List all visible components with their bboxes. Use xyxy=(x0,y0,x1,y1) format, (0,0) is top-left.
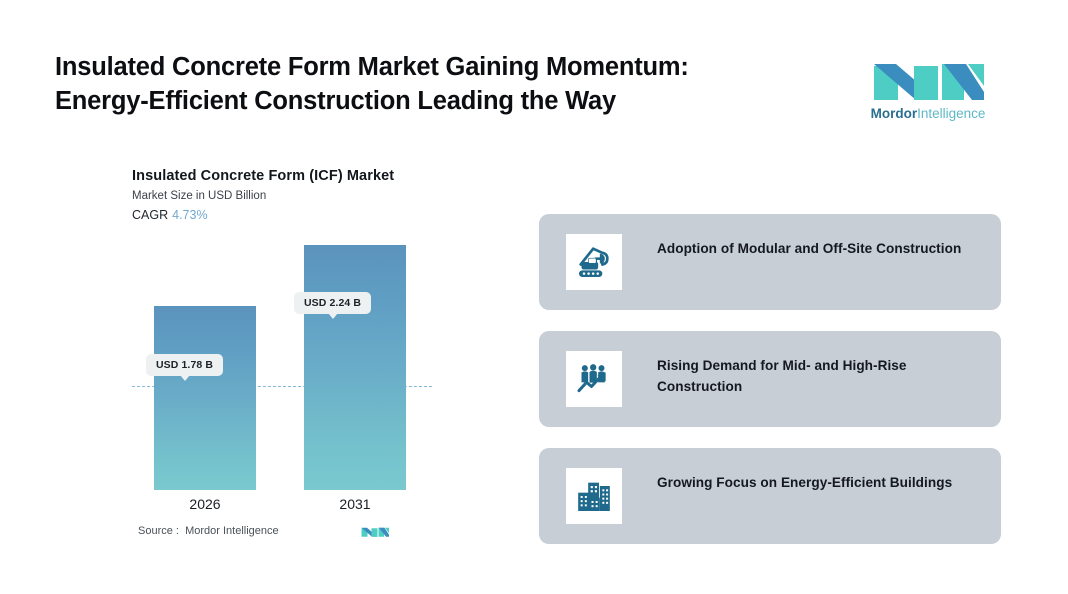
market-drivers-list: Adoption of Modular and Off-Site Constru… xyxy=(539,214,1001,544)
driver-card-highrise-demand[interactable]: Rising Demand for Mid- and High-Rise Con… xyxy=(539,331,1001,427)
driver-card-label: Rising Demand for Mid- and High-Rise Con… xyxy=(657,355,977,397)
bar-value-label-2026: USD 1.78 B xyxy=(146,354,223,376)
brand-logo: MordorIntelligence xyxy=(862,52,994,130)
x-axis-tick-2026: 2026 xyxy=(154,496,256,512)
excavator-icon xyxy=(566,234,622,290)
city-buildings-icon xyxy=(566,468,622,524)
driver-card-label: Growing Focus on Energy-Efficient Buildi… xyxy=(657,472,977,493)
page-title: Insulated Concrete Form Market Gaining M… xyxy=(55,50,845,118)
chart-cagr: CAGR4.73% xyxy=(132,208,208,222)
people-growth-chart-icon xyxy=(566,351,622,407)
cagr-label: CAGR xyxy=(132,208,168,222)
chart-source: Source : Mordor Intelligence xyxy=(138,523,448,543)
x-axis-tick-2031: 2031 xyxy=(304,496,406,512)
market-size-chart: Insulated Concrete Form (ICF) Market Mar… xyxy=(132,160,492,545)
page-header: Insulated Concrete Form Market Gaining M… xyxy=(0,0,1068,150)
bar-value-label-2031: USD 2.24 B xyxy=(294,292,371,314)
source-name: Mordor Intelligence xyxy=(185,525,279,537)
chart-title: Insulated Concrete Form (ICF) Market xyxy=(132,168,394,184)
source-text: Source : Mordor Intelligence xyxy=(138,525,279,537)
bar-2026[interactable] xyxy=(154,306,256,490)
driver-card-label: Adoption of Modular and Off-Site Constru… xyxy=(657,238,977,259)
brand-name-bold: Mordor xyxy=(871,106,918,121)
x-axis-labels: 2026 2031 xyxy=(132,496,432,518)
page-title-line-1: Insulated Concrete Form Market Gaining M… xyxy=(55,50,845,84)
bar-2031[interactable] xyxy=(304,245,406,490)
source-logo-icon xyxy=(360,523,390,539)
mordor-intelligence-logo-icon xyxy=(868,52,988,102)
driver-card-energy-efficient-buildings[interactable]: Growing Focus on Energy-Efficient Buildi… xyxy=(539,448,1001,544)
cagr-value: 4.73% xyxy=(172,208,207,222)
chart-plot-area: USD 1.78 B USD 2.24 B xyxy=(132,230,432,490)
chart-subtitle: Market Size in USD Billion xyxy=(132,190,266,202)
brand-name-light: Intelligence xyxy=(917,106,985,121)
page-title-line-2: Energy-Efficient Construction Leading th… xyxy=(55,84,845,118)
source-label: Source : xyxy=(138,525,179,537)
brand-wordmark: MordorIntelligence xyxy=(862,106,994,122)
driver-card-modular-construction[interactable]: Adoption of Modular and Off-Site Constru… xyxy=(539,214,1001,310)
